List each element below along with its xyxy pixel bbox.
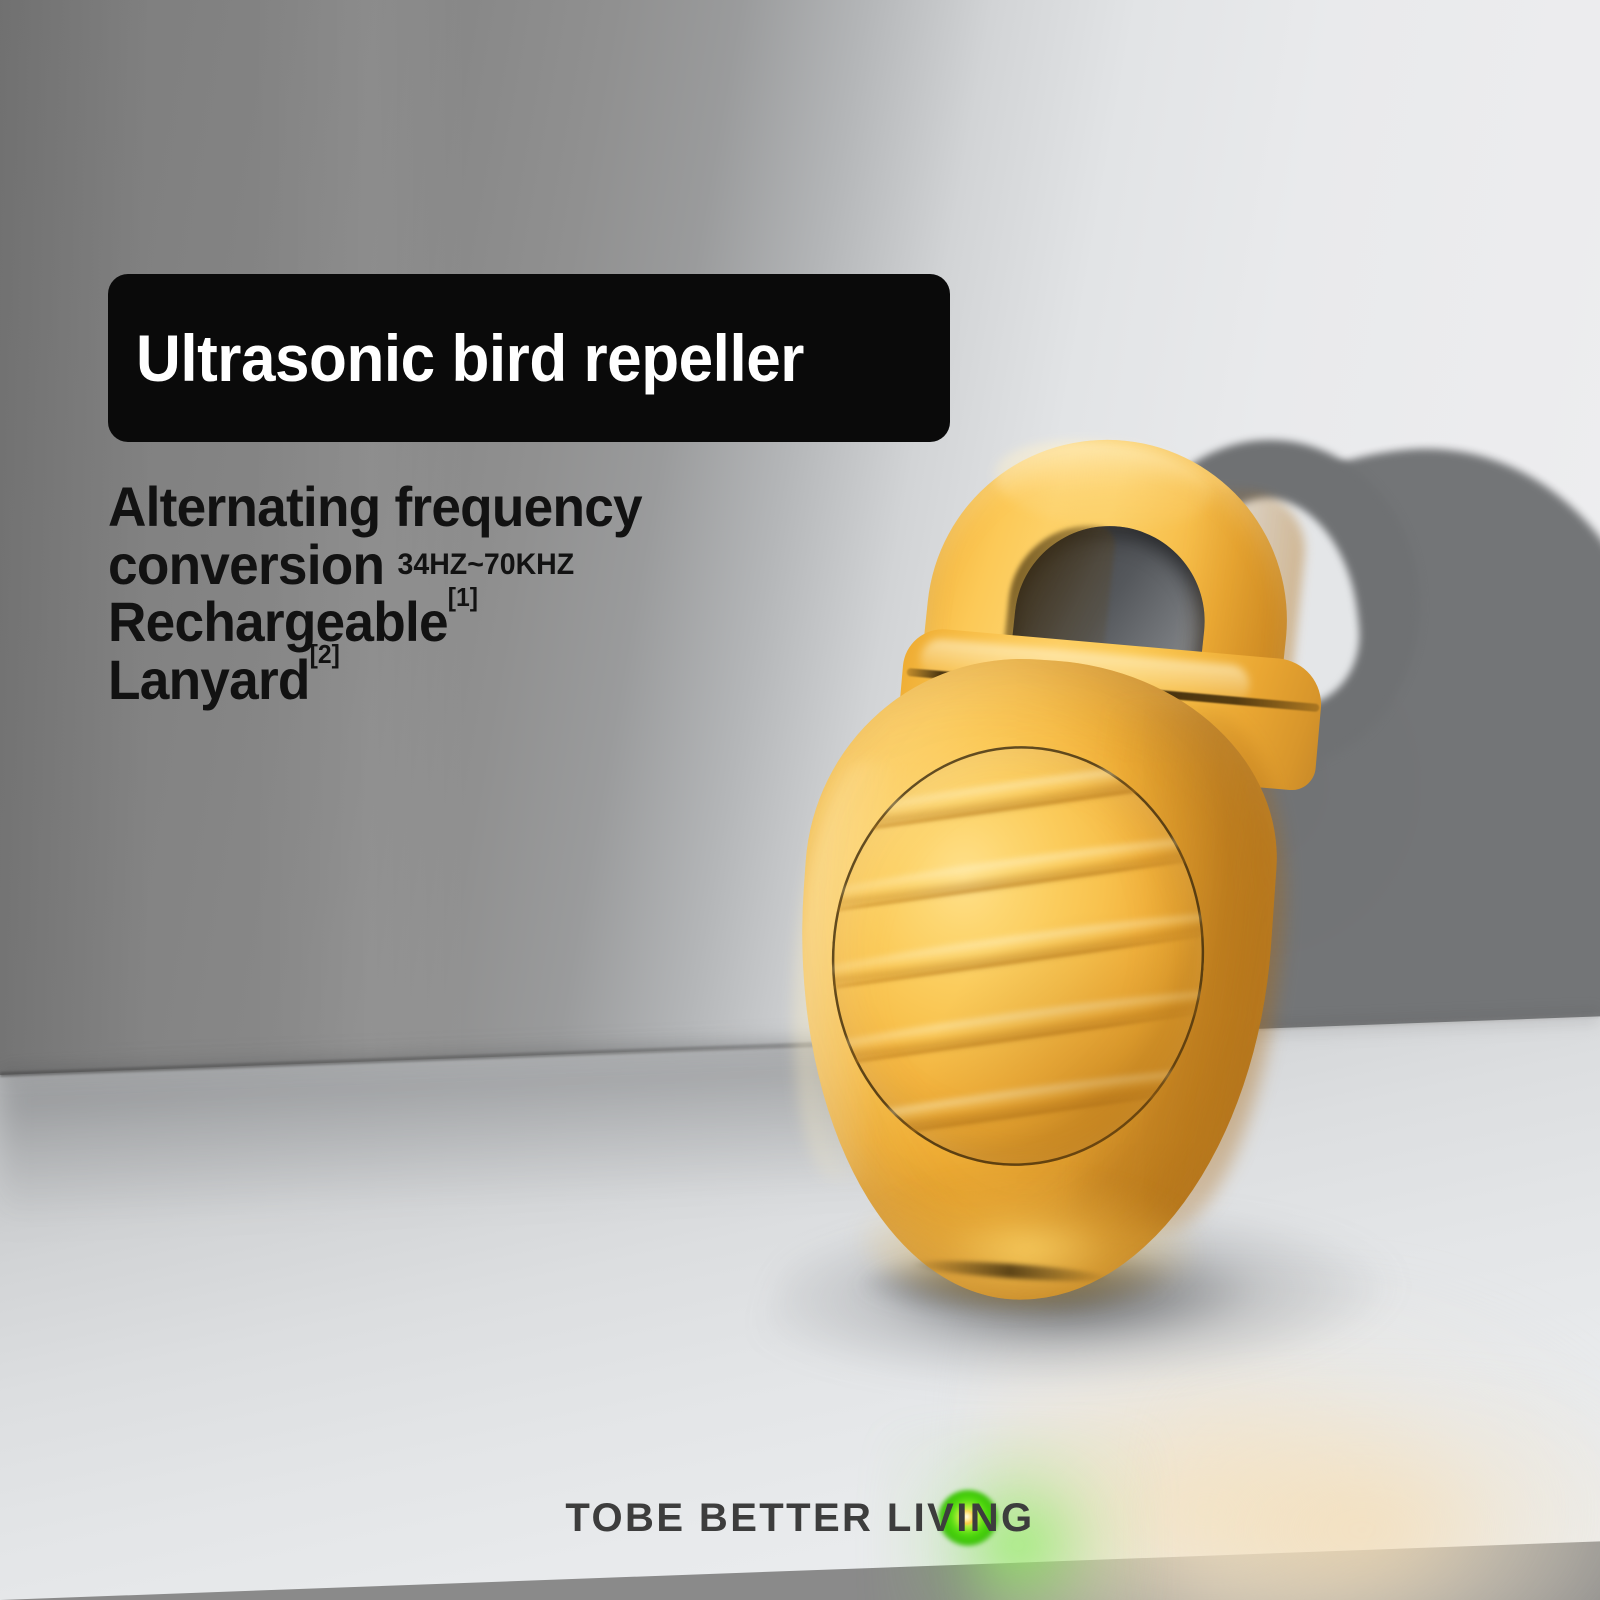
speaker-grille-panel [818,734,1218,1179]
footnote-marker-2: [2] [310,639,340,669]
title-badge: Ultrasonic bird repeller [108,274,950,442]
feature-list: Alternating frequency conversion 34HZ~70… [108,478,828,709]
product-device [760,430,1380,1330]
brand-tagline: TOBE BETTER LIVING [0,1496,1600,1541]
footnote-marker-1: [1] [448,582,478,612]
feature-item-lanyard: Lanyard[2] [108,651,792,709]
feature-item-frequency-line1: Alternating frequency [108,478,792,536]
feature-spec-frequency-range: 34HZ~70KHZ [398,550,575,581]
feature-label-rechargeable: Rechargeable [108,590,448,653]
feature-item-rechargeable: Rechargeable[1] [108,593,792,651]
page-title: Ultrasonic bird repeller [136,325,804,391]
product-marketing-image: Ultrasonic bird repeller Alternating fre… [0,0,1600,1600]
feature-label-lanyard: Lanyard [108,648,310,711]
body-bottom-bounce-light [860,1160,1220,1310]
grille-panel-shading [818,734,1218,1179]
feature-label-conversion: conversion [108,536,384,594]
